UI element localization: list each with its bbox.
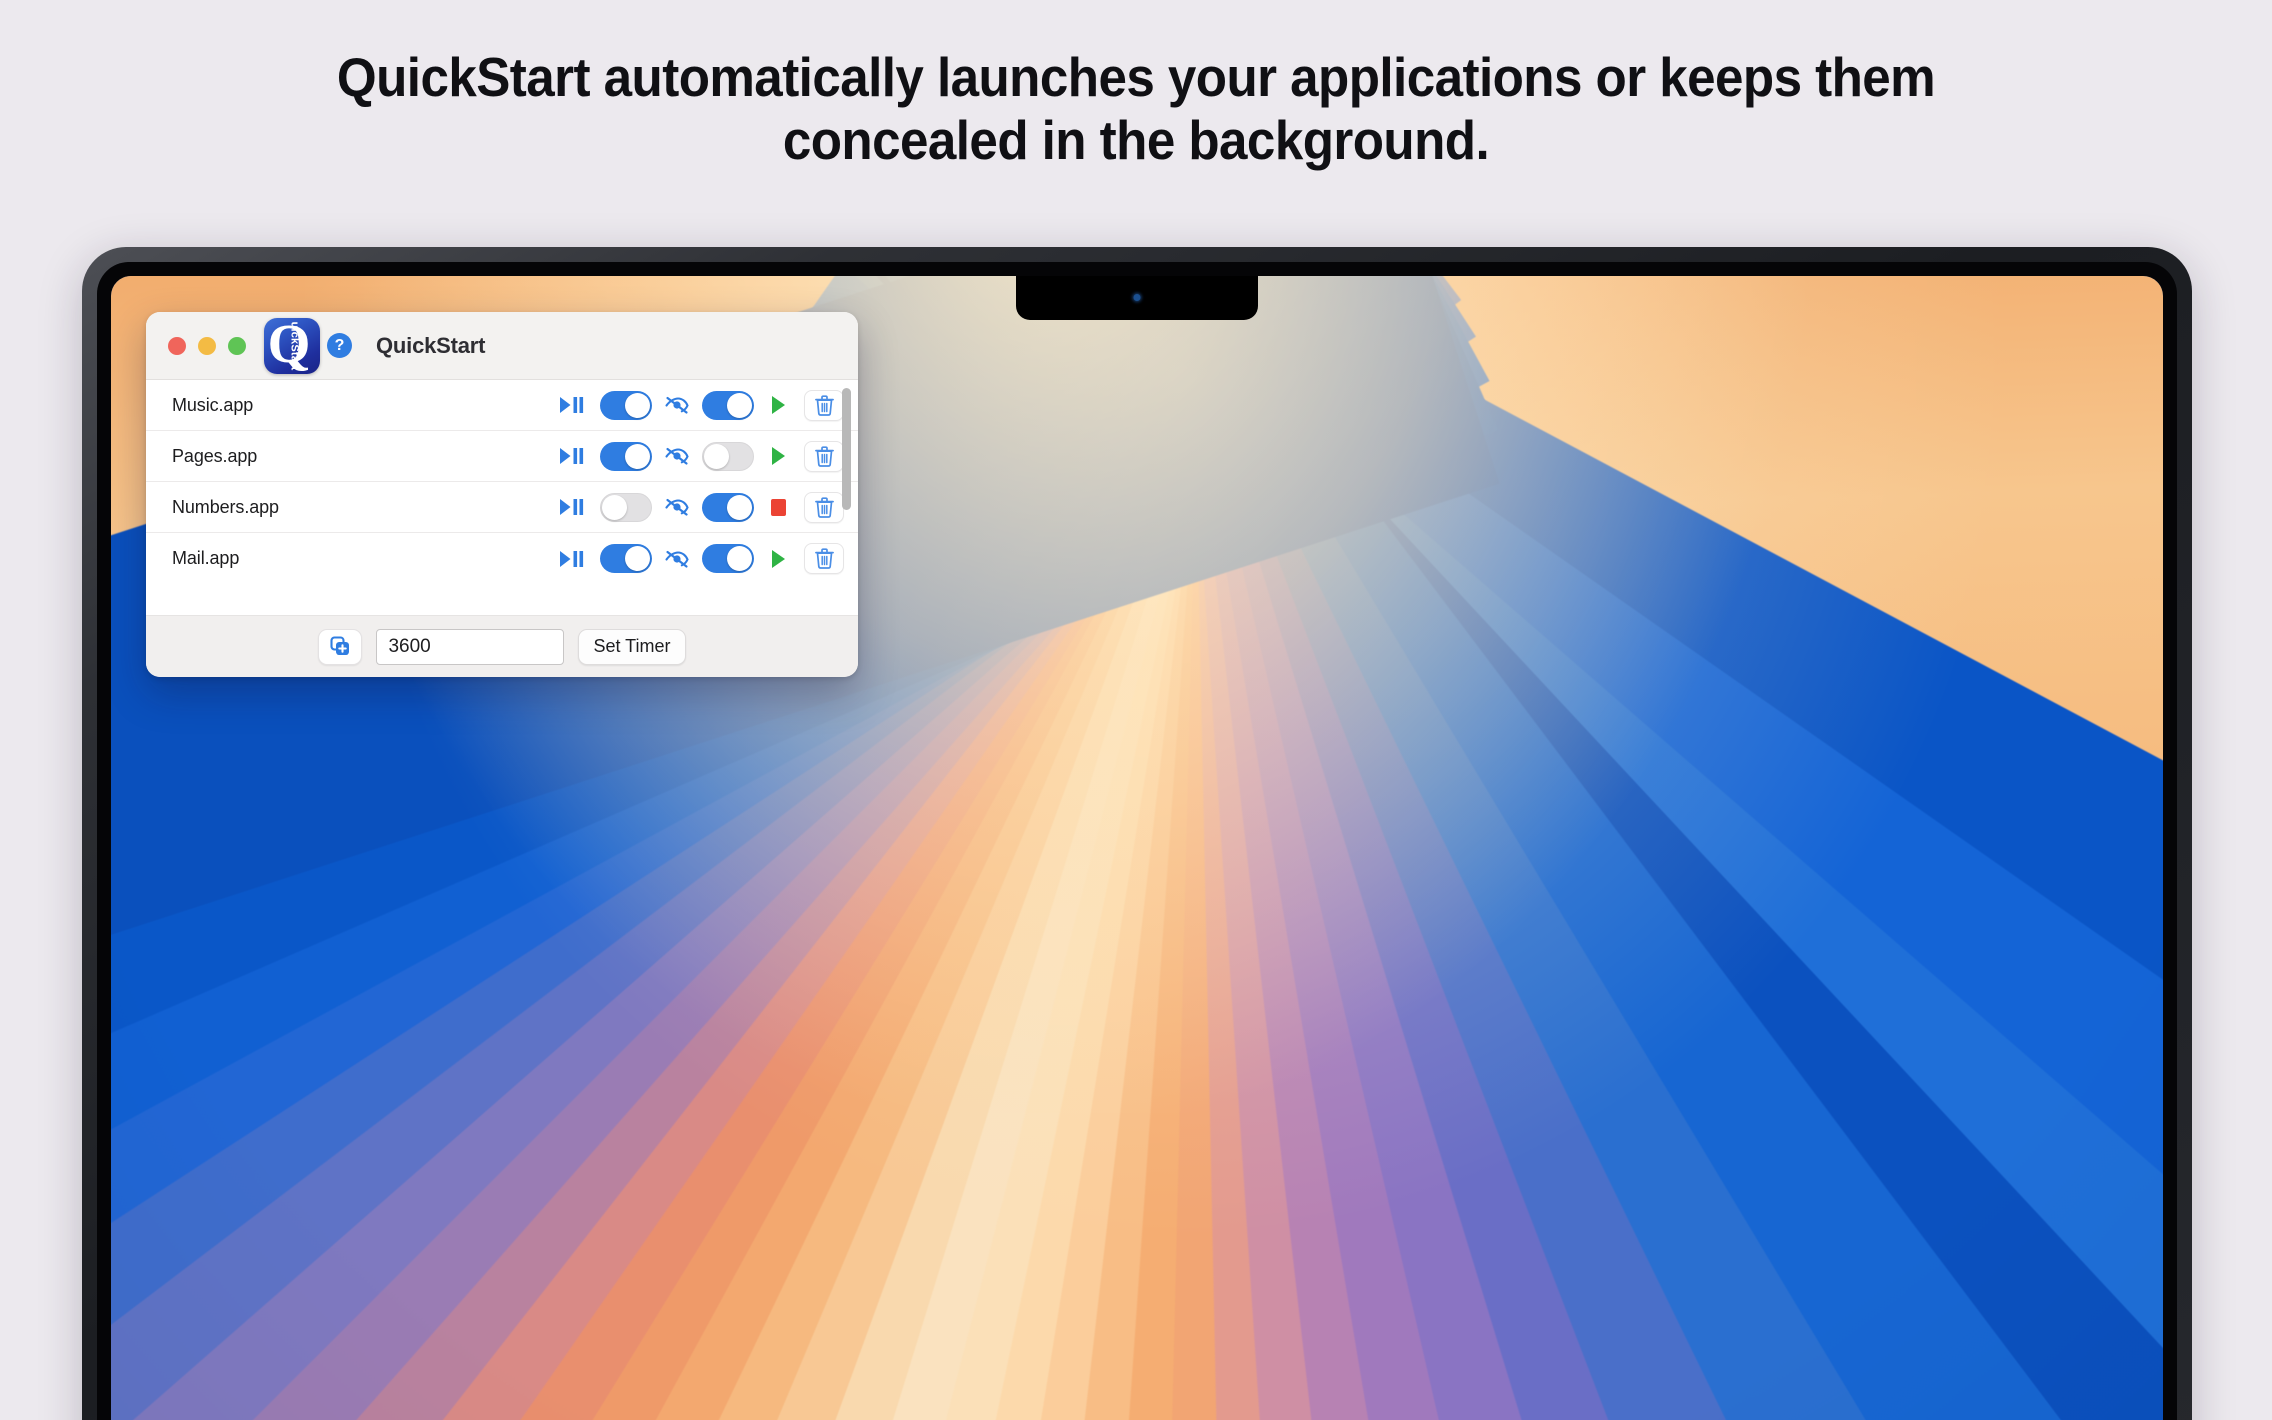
launch-toggle[interactable] bbox=[600, 544, 652, 573]
page-title: QuickStart automatically launches your a… bbox=[80, 46, 2193, 172]
toggle-knob bbox=[727, 546, 752, 571]
state-running-icon[interactable] bbox=[772, 550, 785, 568]
screen-notch bbox=[1016, 276, 1258, 320]
status-badge[interactable] bbox=[762, 550, 794, 568]
play-pause-icon bbox=[559, 447, 585, 465]
eye-slash-icon bbox=[664, 549, 690, 569]
laptop-mockup: Q uickStart ? QuickStart Music.appPages.… bbox=[82, 247, 2192, 1420]
row-controls bbox=[552, 390, 858, 421]
toggle-knob bbox=[704, 444, 729, 469]
app-icon: Q uickStart bbox=[264, 318, 320, 374]
delete-button[interactable] bbox=[804, 441, 844, 472]
play-pause-button[interactable] bbox=[552, 498, 592, 516]
eye-slash-icon bbox=[664, 497, 690, 517]
hide-button[interactable] bbox=[660, 446, 694, 466]
laptop-screen: Q uickStart ? QuickStart Music.appPages.… bbox=[111, 276, 2163, 1420]
state-stopped-icon[interactable] bbox=[771, 499, 786, 516]
trash-icon bbox=[815, 395, 834, 416]
headline-line-1: QuickStart automatically launches your a… bbox=[337, 46, 1935, 108]
camera-icon bbox=[1134, 294, 1141, 301]
delete-button[interactable] bbox=[804, 390, 844, 421]
promo-screenshot: QuickStart automatically launches your a… bbox=[0, 0, 2272, 1420]
toggle-knob bbox=[727, 495, 752, 520]
eye-slash-icon bbox=[664, 446, 690, 466]
hide-button[interactable] bbox=[660, 395, 694, 415]
headline-line-2: concealed in the background. bbox=[80, 109, 2193, 172]
app-list-row[interactable]: Music.app bbox=[146, 380, 858, 431]
app-name: Numbers.app bbox=[172, 497, 552, 518]
add-app-button[interactable] bbox=[318, 629, 362, 665]
set-timer-button[interactable]: Set Timer bbox=[578, 629, 685, 665]
traffic-lights bbox=[168, 337, 246, 355]
launch-toggle[interactable] bbox=[600, 391, 652, 420]
app-list-row[interactable]: Numbers.app bbox=[146, 482, 858, 533]
laptop-bezel: Q uickStart ? QuickStart Music.appPages.… bbox=[97, 262, 2177, 1420]
play-pause-button[interactable] bbox=[552, 550, 592, 568]
window-title: QuickStart bbox=[376, 333, 485, 359]
play-pause-icon bbox=[559, 550, 585, 568]
help-button[interactable]: ? bbox=[327, 333, 352, 358]
state-running-icon[interactable] bbox=[772, 396, 785, 414]
add-duplicate-icon bbox=[329, 636, 351, 658]
app-list-row[interactable]: Mail.app bbox=[146, 533, 858, 584]
delete-button[interactable] bbox=[804, 492, 844, 523]
timer-input[interactable]: 3600 bbox=[376, 629, 564, 665]
trash-icon bbox=[815, 548, 834, 569]
toggle-knob bbox=[625, 546, 650, 571]
hide-toggle[interactable] bbox=[702, 493, 754, 522]
delete-button[interactable] bbox=[804, 543, 844, 574]
status-badge[interactable] bbox=[762, 447, 794, 465]
row-controls bbox=[552, 492, 858, 523]
state-running-icon[interactable] bbox=[772, 447, 785, 465]
hide-toggle[interactable] bbox=[702, 391, 754, 420]
zoom-button[interactable] bbox=[228, 337, 246, 355]
app-name: Pages.app bbox=[172, 446, 552, 467]
close-button[interactable] bbox=[168, 337, 186, 355]
trash-icon bbox=[815, 497, 834, 518]
launch-toggle[interactable] bbox=[600, 442, 652, 471]
quickstart-window: Q uickStart ? QuickStart Music.appPages.… bbox=[146, 312, 858, 677]
play-pause-icon bbox=[559, 396, 585, 414]
toggle-knob bbox=[727, 393, 752, 418]
play-pause-button[interactable] bbox=[552, 396, 592, 414]
hide-button[interactable] bbox=[660, 549, 694, 569]
toggle-knob bbox=[602, 495, 627, 520]
trash-icon bbox=[815, 446, 834, 467]
hide-button[interactable] bbox=[660, 497, 694, 517]
status-badge[interactable] bbox=[762, 499, 794, 516]
hide-toggle[interactable] bbox=[702, 544, 754, 573]
app-list-row[interactable]: Pages.app bbox=[146, 431, 858, 482]
hide-toggle[interactable] bbox=[702, 442, 754, 471]
app-icon-suffix: uickStart bbox=[289, 321, 301, 370]
minimize-button[interactable] bbox=[198, 337, 216, 355]
launch-toggle[interactable] bbox=[600, 493, 652, 522]
app-list: Music.appPages.appNumbers.appMail.app bbox=[146, 380, 858, 615]
toggle-knob bbox=[625, 444, 650, 469]
play-pause-icon bbox=[559, 498, 585, 516]
row-controls bbox=[552, 543, 858, 574]
app-name: Music.app bbox=[172, 395, 552, 416]
toggle-knob bbox=[625, 393, 650, 418]
status-badge[interactable] bbox=[762, 396, 794, 414]
row-controls bbox=[552, 441, 858, 472]
list-scrollbar[interactable] bbox=[842, 388, 851, 510]
window-bottom-bar: 3600 Set Timer bbox=[146, 615, 858, 677]
play-pause-button[interactable] bbox=[552, 447, 592, 465]
app-name: Mail.app bbox=[172, 548, 552, 569]
eye-slash-icon bbox=[664, 395, 690, 415]
window-titlebar: Q uickStart ? QuickStart bbox=[146, 312, 858, 380]
